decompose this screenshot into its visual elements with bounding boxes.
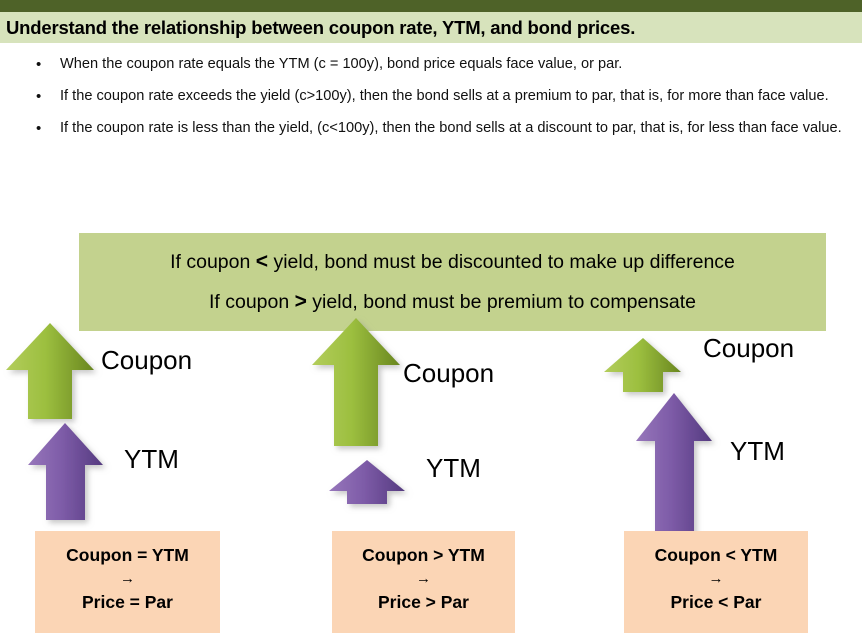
list-item: • If the coupon rate is less than the yi… (0, 119, 862, 138)
ytm-arrow-up-icon (628, 393, 720, 538)
outcome-result: Price < Par (624, 589, 808, 615)
ytm-label: YTM (730, 436, 785, 466)
coupon-arrow-up-icon (602, 338, 686, 394)
page-title: Understand the relationship between coup… (6, 13, 856, 42)
bullet-list: • When the coupon rate equals the YTM (c… (0, 55, 862, 151)
list-item: • When the coupon rate equals the YTM (c… (0, 55, 862, 74)
outcome-result: Price > Par (332, 589, 515, 615)
implies-arrow-icon: → (332, 568, 515, 589)
outcome-condition: Coupon < YTM (624, 542, 808, 568)
list-item: • If the coupon rate exceeds the yield (… (0, 87, 862, 106)
less-than-symbol: < (256, 250, 268, 273)
outcome-condition: Coupon > YTM (332, 542, 515, 568)
list-item-text: If the coupon rate exceeds the yield (c>… (60, 88, 829, 104)
coupon-arrow-up-icon (4, 323, 96, 421)
callout-line-1: If coupon < yield, bond must be discount… (170, 242, 735, 282)
callout-line-1-prefix: If coupon (170, 251, 256, 273)
ytm-label: YTM (124, 444, 179, 474)
implies-arrow-icon: → (624, 568, 808, 589)
outcome-box-premium: Coupon > YTM → Price > Par (332, 531, 515, 633)
implies-arrow-icon: → (35, 568, 220, 589)
callout-line-1-suffix: yield, bond must be discounted to make u… (268, 251, 735, 273)
greater-than-symbol: > (295, 290, 307, 313)
callout-line-2-suffix: yield, bond must be premium to compensat… (307, 291, 696, 313)
bullet-marker-icon: • (36, 119, 41, 138)
coupon-label: Coupon (403, 358, 494, 388)
outcome-box-discount: Coupon < YTM → Price < Par (624, 531, 808, 633)
outcome-condition: Coupon = YTM (35, 542, 220, 568)
list-item-text: If the coupon rate is less than the yiel… (60, 120, 842, 136)
coupon-label: Coupon (703, 333, 794, 363)
coupon-label: Coupon (101, 345, 192, 375)
callout-line-2-prefix: If coupon (209, 291, 295, 313)
top-accent-bar (0, 0, 862, 12)
ytm-arrow-up-icon (327, 460, 409, 506)
ytm-arrow-up-icon (26, 423, 106, 523)
callout-box: If coupon < yield, bond must be discount… (79, 233, 826, 331)
coupon-arrow-up-icon (310, 318, 402, 448)
callout-line-2: If coupon > yield, bond must be premium … (209, 282, 696, 322)
bullet-marker-icon: • (36, 87, 41, 106)
ytm-label: YTM (426, 453, 481, 483)
outcome-result: Price = Par (35, 589, 220, 615)
bullet-marker-icon: • (36, 55, 41, 74)
list-item-text: When the coupon rate equals the YTM (c =… (60, 56, 622, 72)
outcome-box-equal: Coupon = YTM → Price = Par (35, 531, 220, 633)
